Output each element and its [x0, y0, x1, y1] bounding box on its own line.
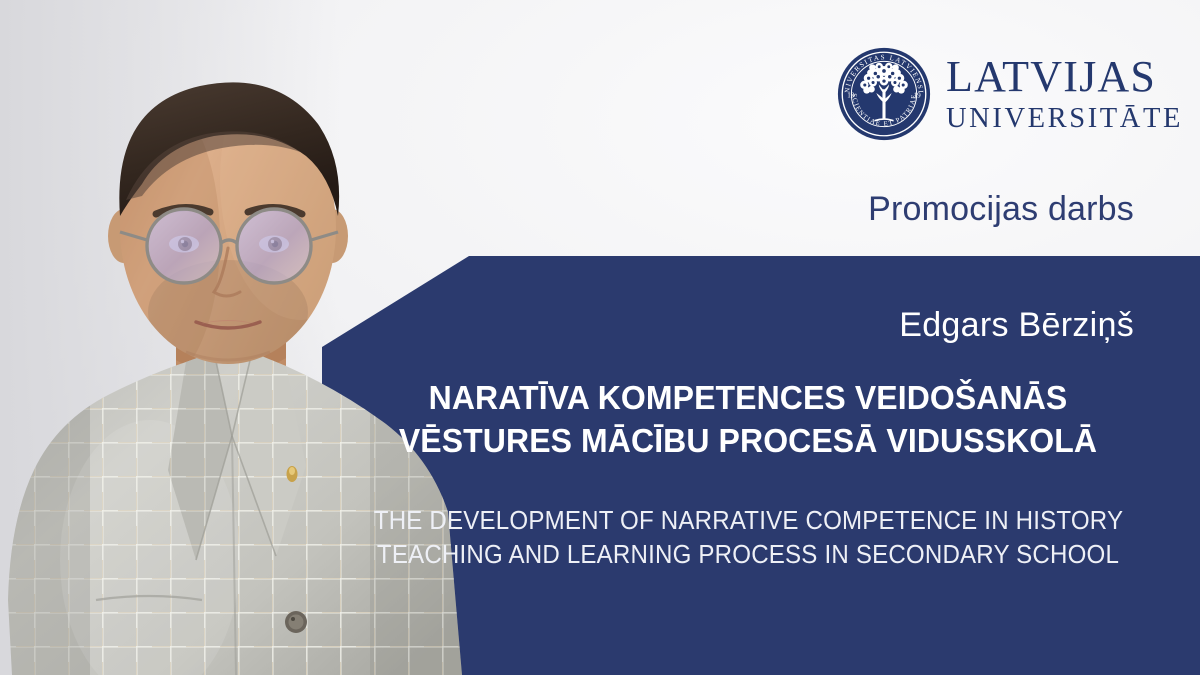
document-type-label: Promocijas darbs [868, 190, 1134, 229]
title-slide: UNIVERSITAS LATVIENSIS SCIENTIAE ET PATR… [0, 0, 1200, 675]
wordmark-latvijas: LATVIJAS [946, 55, 1156, 99]
wordmark-universitate: UNIVERSITĀTE [946, 105, 1183, 134]
title-en-line-1: THE DEVELOPMENT OF NARRATIVE COMPETENCE … [374, 505, 1122, 539]
university-logo: UNIVERSITAS LATVIENSIS SCIENTIAE ET PATR… [836, 46, 1183, 142]
thesis-title-english: THE DEVELOPMENT OF NARRATIVE COMPETENCE … [374, 505, 1122, 573]
portrait-photo [0, 0, 480, 675]
title-lv-line-1: NARATĪVA KOMPETENCES VEIDOŠANĀS [370, 378, 1126, 421]
title-lv-line-2: VĒSTURES MĀCĪBU PROCESĀ VIDUSSKOLĀ [370, 421, 1126, 464]
title-en-line-2: TEACHING AND LEARNING PROCESS IN SECONDA… [374, 539, 1122, 573]
university-seal-icon: UNIVERSITAS LATVIENSIS SCIENTIAE ET PATR… [836, 46, 932, 142]
thesis-title-latvian: NARATĪVA KOMPETENCES VEIDOŠANĀS VĒSTURES… [370, 378, 1126, 464]
svg-text:19: 19 [847, 91, 855, 99]
university-wordmark: LATVIJAS UNIVERSITĀTE [946, 55, 1183, 134]
svg-text:19: 19 [914, 91, 922, 99]
author-name: Edgars Bērziņš [899, 306, 1134, 345]
